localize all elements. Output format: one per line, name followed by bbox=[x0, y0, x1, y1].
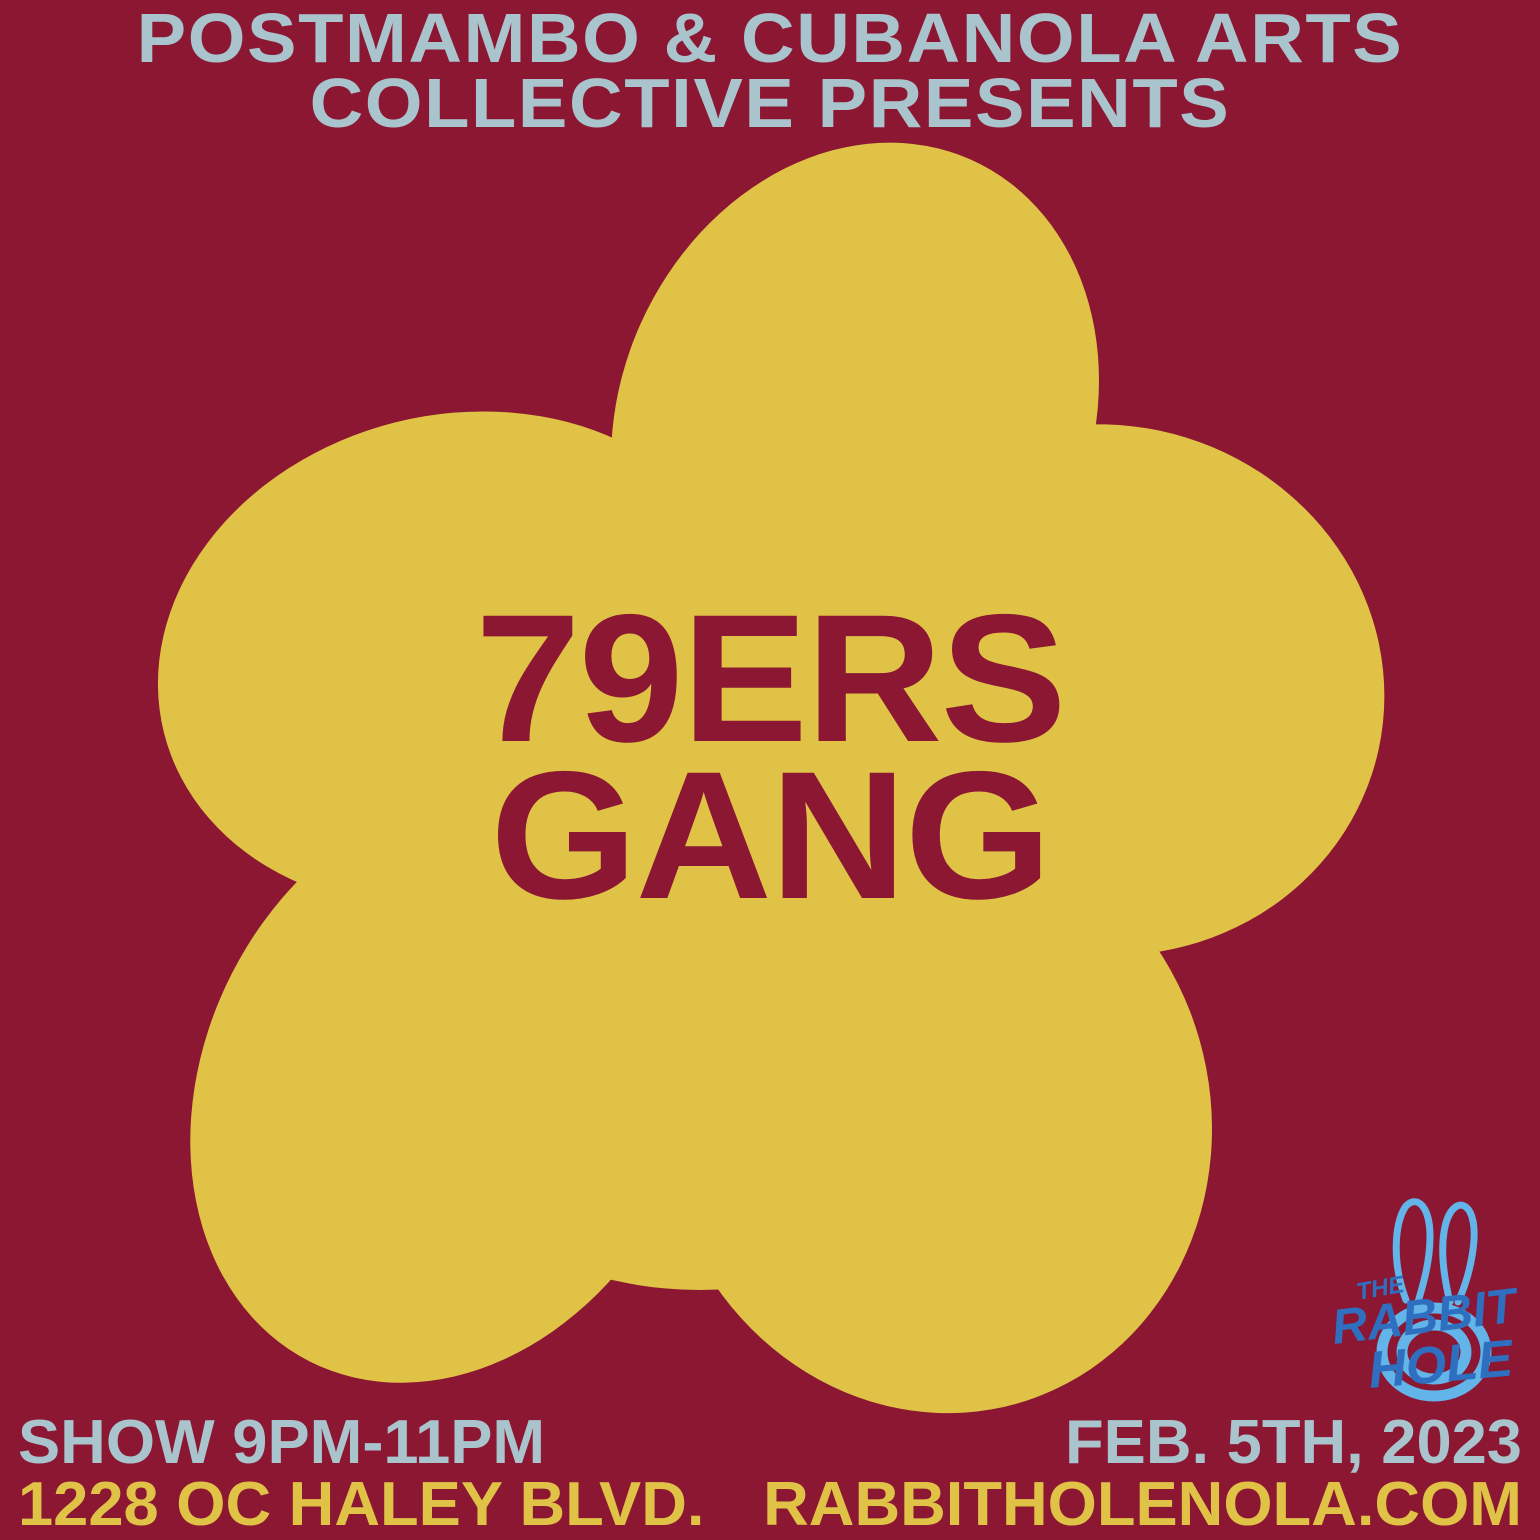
band-title: 79ERS GANG bbox=[0, 600, 1540, 913]
show-time-text: SHOW 9PM-11PM bbox=[18, 1412, 545, 1474]
band-title-line-2: GANG bbox=[0, 757, 1540, 914]
rabbit-hole-logo[interactable]: THE RABBIT HOLE bbox=[1322, 1192, 1540, 1424]
footer-right-column: FEB. 5TH, 2023 RABBITHOLENOLA.COM bbox=[778, 1412, 1522, 1538]
footer-left-column: SHOW 9PM-11PM 1228 OC HALEY BLVD. bbox=[18, 1412, 691, 1538]
logo-hole-text: HOLE bbox=[1366, 1329, 1516, 1399]
presenter-line-2: COLLECTIVE PRESENTS bbox=[0, 71, 1540, 136]
presenter-line-1: POSTMAMBO & CUBANOLA ARTS bbox=[0, 6, 1540, 71]
presenter-header: POSTMAMBO & CUBANOLA ARTS COLLECTIVE PRE… bbox=[0, 6, 1540, 136]
event-poster: POSTMAMBO & CUBANOLA ARTS COLLECTIVE PRE… bbox=[0, 0, 1540, 1540]
website-link[interactable]: RABBITHOLENOLA.COM bbox=[763, 1474, 1522, 1538]
event-date-text: FEB. 5TH, 2023 bbox=[1065, 1412, 1522, 1474]
venue-address-text: 1228 OC HALEY BLVD. bbox=[18, 1474, 704, 1538]
event-footer: SHOW 9PM-11PM 1228 OC HALEY BLVD. FEB. 5… bbox=[0, 1418, 1540, 1538]
